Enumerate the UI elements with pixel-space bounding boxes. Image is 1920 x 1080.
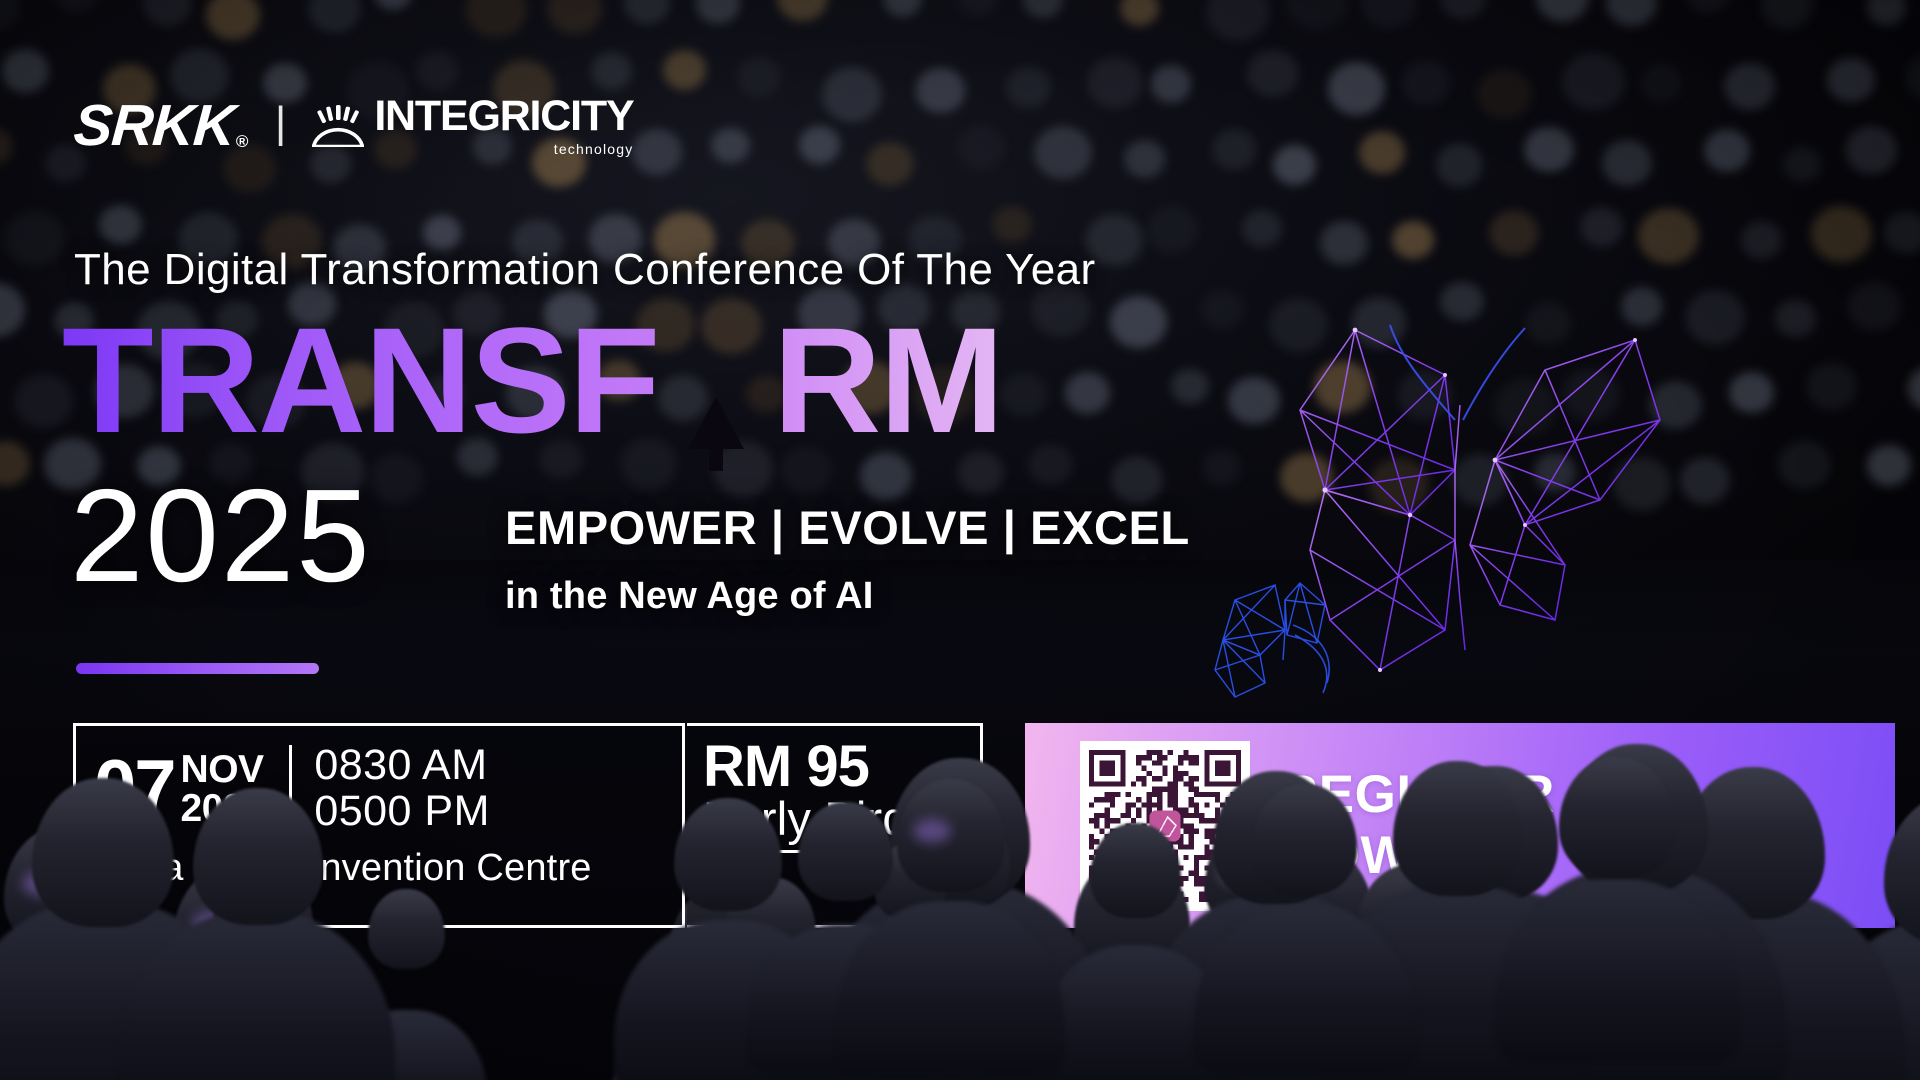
title-letter-o: O bbox=[658, 305, 773, 455]
event-venue: Setia City Convention Centre bbox=[96, 847, 682, 890]
event-end-time: 0500 PM bbox=[314, 788, 490, 834]
sunrise-rays-icon bbox=[312, 105, 364, 147]
event-year: 2025 bbox=[70, 470, 372, 602]
event-poster: SRKK ® | INTEGRICITY techno bbox=[0, 0, 1920, 1080]
event-times: 0830 AM 0500 PM bbox=[314, 742, 490, 835]
title-part-two: RM bbox=[773, 305, 1002, 455]
polygonal-butterfly-icon-small bbox=[1205, 565, 1375, 705]
integricity-wordmark-group: INTEGRICITY technology bbox=[374, 95, 633, 156]
srkk-wordmark: SRKK bbox=[72, 97, 236, 155]
conference-tagline: The Digital Transformation Conference Of… bbox=[74, 245, 1096, 295]
registered-mark-icon: ® bbox=[236, 133, 248, 150]
page-title: TRANSF O RM bbox=[62, 305, 1002, 455]
integricity-tagline: technology bbox=[554, 142, 634, 156]
integricity-logo: INTEGRICITY technology bbox=[312, 95, 633, 156]
tree-arrow-icon bbox=[684, 344, 748, 422]
logo-row: SRKK ® | INTEGRICITY techno bbox=[74, 95, 633, 156]
logo-divider: | bbox=[275, 101, 286, 145]
event-start-time: 0830 AM bbox=[314, 742, 490, 788]
event-pillars: EMPOWER | EVOLVE | EXCEL bbox=[505, 500, 1190, 555]
integricity-wordmark: INTEGRICITY bbox=[374, 95, 633, 138]
title-part-one: TRANSF bbox=[62, 305, 658, 455]
transform-title-wrap: TRANSF O RM bbox=[62, 305, 1002, 455]
event-datetime-row: 07 NOV 2024 0830 AM 0500 PM bbox=[76, 738, 682, 835]
srkk-logo: SRKK ® bbox=[72, 97, 251, 155]
accent-bar bbox=[76, 663, 319, 674]
event-subpillar: in the New Age of AI bbox=[505, 575, 874, 618]
event-month: NOV bbox=[181, 750, 266, 790]
